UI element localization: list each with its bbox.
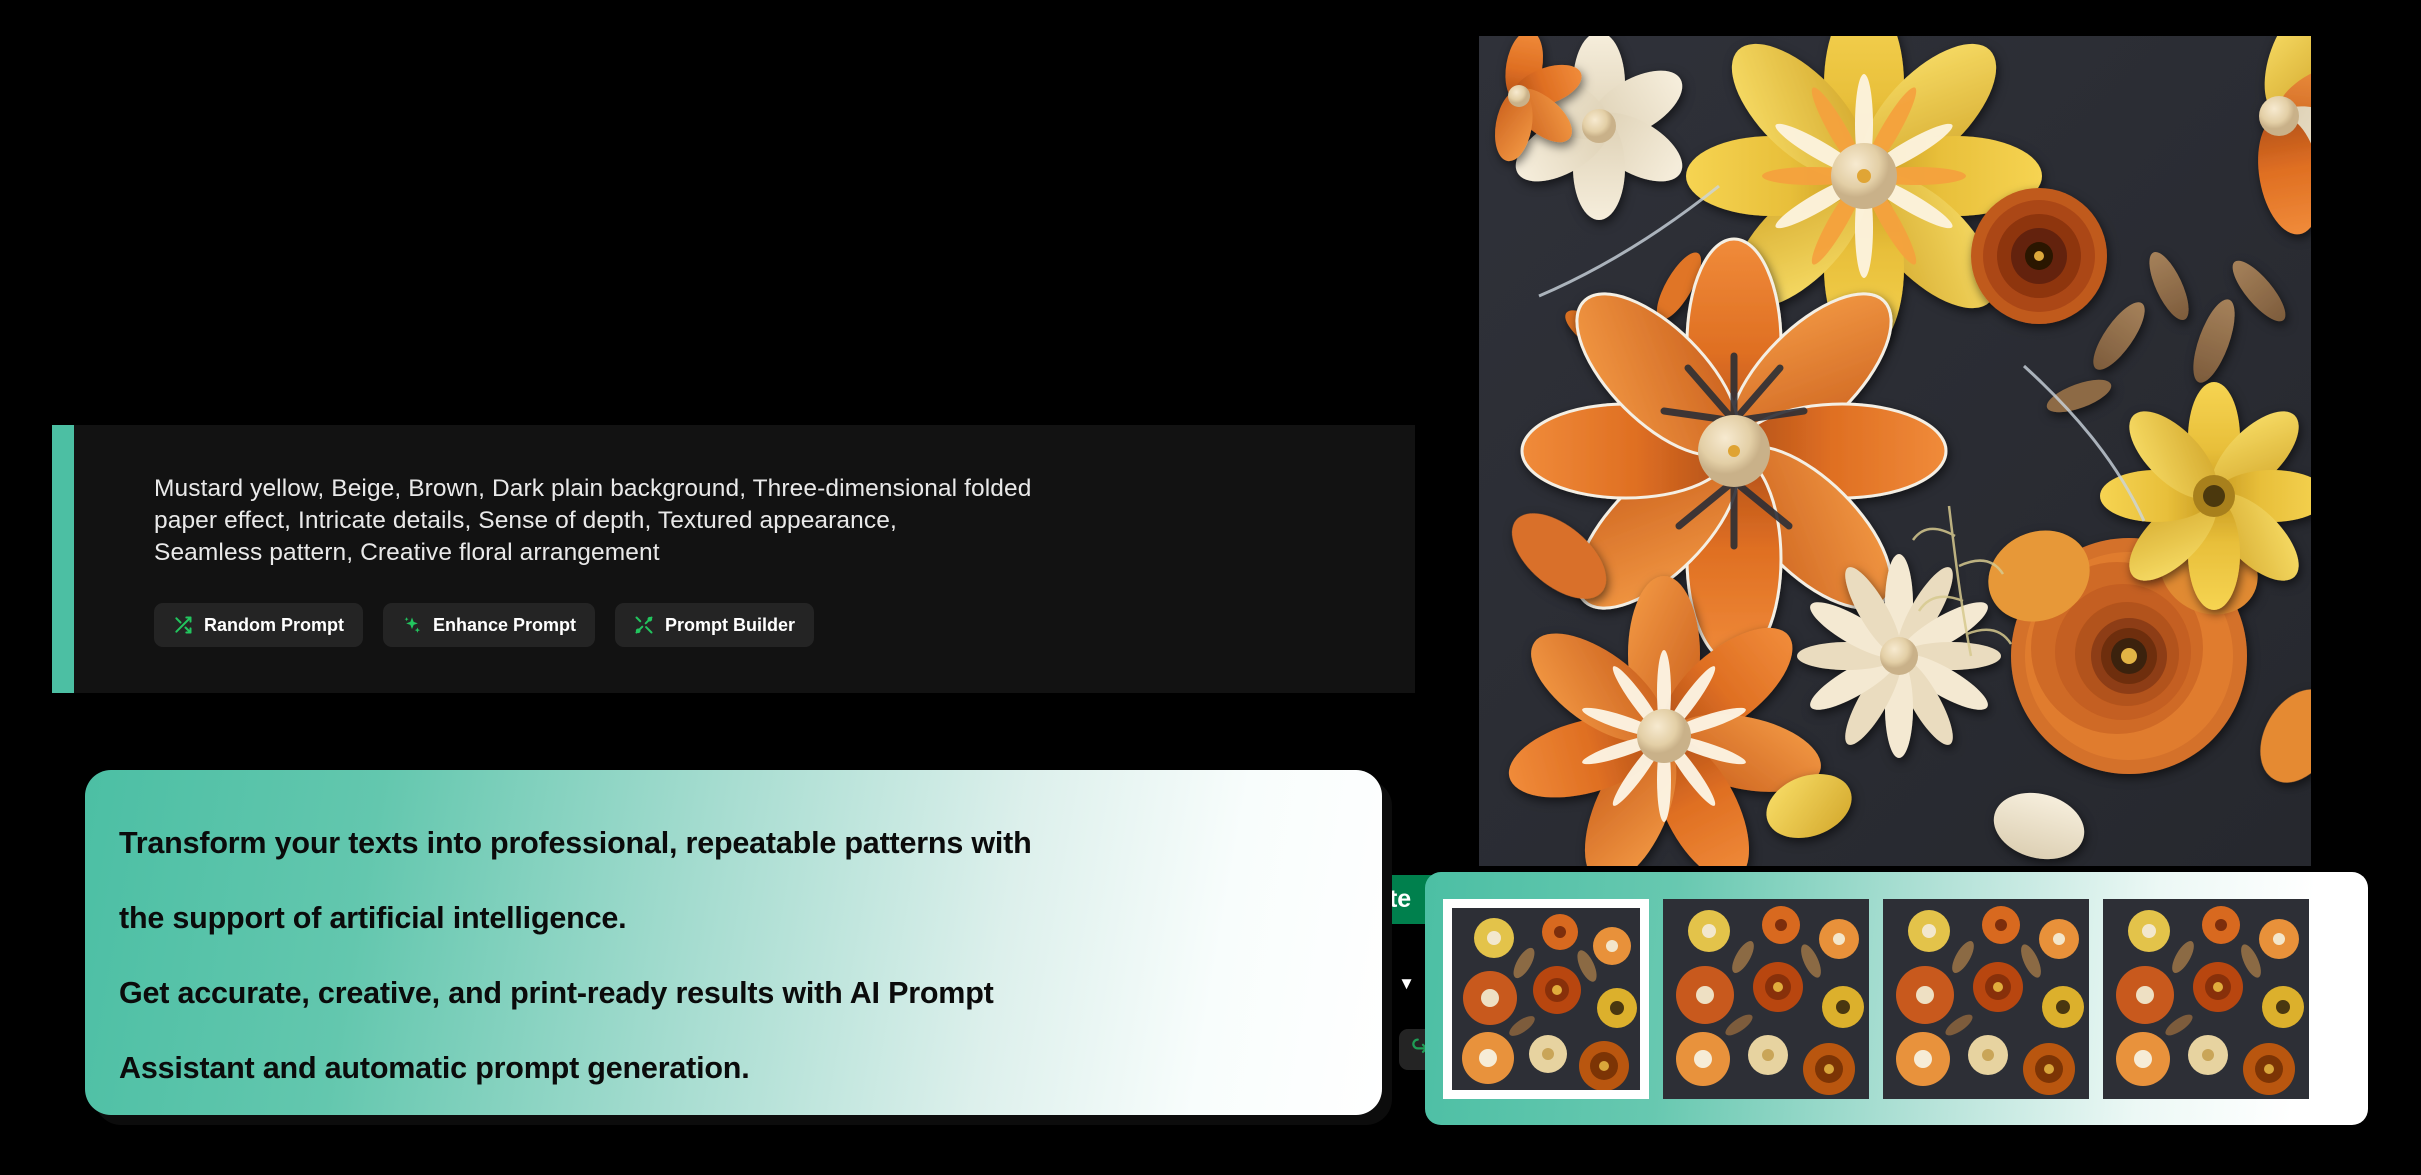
sparkles-icon (402, 615, 422, 635)
paper-flower-artwork (1479, 36, 2311, 866)
thumbnail-image (1883, 899, 2089, 1099)
marketing-banner: Transform your texts into professional, … (85, 770, 1382, 1115)
thumbnail-item[interactable] (1663, 899, 1869, 1099)
thumbnail-image (1452, 908, 1640, 1090)
thumbnail-image (1663, 899, 1869, 1099)
thumbnail-item[interactable] (1883, 899, 2089, 1099)
prompt-panel: Mustard yellow, Beige, Brown, Dark plain… (52, 425, 1415, 693)
random-prompt-button[interactable]: Random Prompt (154, 603, 363, 647)
random-prompt-label: Random Prompt (204, 615, 344, 636)
floral-pattern-canvas (1479, 36, 2311, 866)
chevron-down-icon: ▼ (1398, 975, 1415, 992)
thumbnail-strip (1425, 872, 2368, 1125)
prompt-builder-button[interactable]: Prompt Builder (615, 603, 814, 647)
prompt-panel-body: Mustard yellow, Beige, Brown, Dark plain… (74, 425, 1415, 693)
thumbnail-item[interactable] (1443, 899, 1649, 1099)
prompt-action-row: Random Prompt Enhance Prompt (154, 603, 814, 647)
panel-accent-stripe (52, 425, 74, 693)
prompt-textarea[interactable]: Mustard yellow, Beige, Brown, Dark plain… (154, 473, 1034, 569)
thumbnail-image (2103, 899, 2309, 1099)
shuffle-icon (173, 615, 193, 635)
banner-text: Transform your texts into professional, … (119, 806, 1338, 1106)
prompt-builder-label: Prompt Builder (665, 615, 795, 636)
enhance-prompt-button[interactable]: Enhance Prompt (383, 603, 595, 647)
thumbnail-item[interactable] (2103, 899, 2309, 1099)
hammer-wrench-icon (634, 615, 654, 635)
enhance-prompt-label: Enhance Prompt (433, 615, 576, 636)
main-preview-image[interactable] (1479, 36, 2311, 866)
